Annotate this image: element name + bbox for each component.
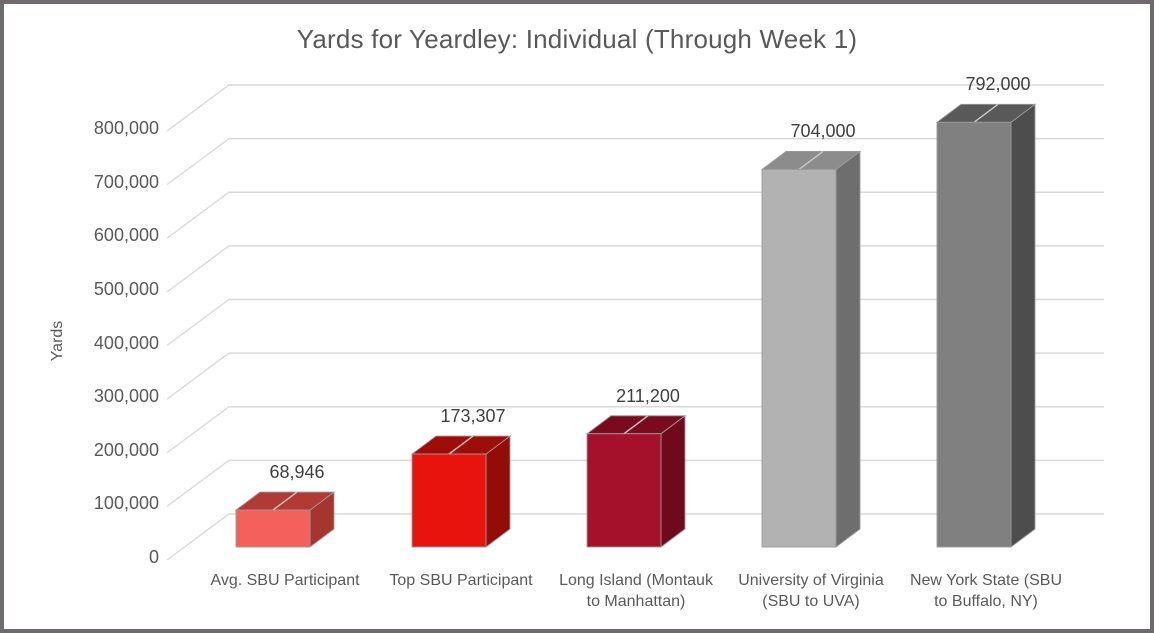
- x-axis-label-line1: New York State (SBU: [886, 570, 1086, 591]
- chart-frame: Yards for Yeardley: Individual (Through …: [0, 0, 1154, 633]
- x-axis-label: New York State (SBUto Buffalo, NY): [886, 570, 1086, 612]
- x-axis-label-line1: Long Island (Montauk: [536, 570, 736, 591]
- bar-value-label: 792,000: [918, 74, 1078, 95]
- bar-value-label: 211,200: [568, 386, 728, 407]
- plot-area: [4, 4, 1150, 629]
- x-axis-label: University of Virginia(SBU to UVA): [711, 570, 911, 612]
- bar-4: [762, 151, 860, 547]
- x-axis-label-line1: Avg. SBU Participant: [185, 570, 385, 591]
- x-axis-label: Avg. SBU Participant: [185, 570, 385, 591]
- bar-3: [587, 416, 685, 547]
- x-axis-label-line1: Top SBU Participant: [361, 570, 561, 591]
- bar-5: [937, 104, 1035, 547]
- x-axis-label: Long Island (Montaukto Manhattan): [536, 570, 736, 612]
- bar-value-label: 704,000: [743, 121, 903, 142]
- x-axis-label-line2: to Buffalo, NY): [886, 591, 1086, 612]
- bar-value-label: 68,946: [217, 462, 377, 483]
- chart-canvas: Yards for Yeardley: Individual (Through …: [4, 4, 1150, 629]
- x-axis-label: Top SBU Participant: [361, 570, 561, 591]
- bar-value-label: 173,307: [393, 406, 553, 427]
- bar-2: [412, 436, 510, 547]
- x-axis-label-line1: University of Virginia: [711, 570, 911, 591]
- x-axis-label-line2: to Manhattan): [536, 591, 736, 612]
- x-axis-label-line2: (SBU to UVA): [711, 591, 911, 612]
- bar-1: [236, 492, 334, 547]
